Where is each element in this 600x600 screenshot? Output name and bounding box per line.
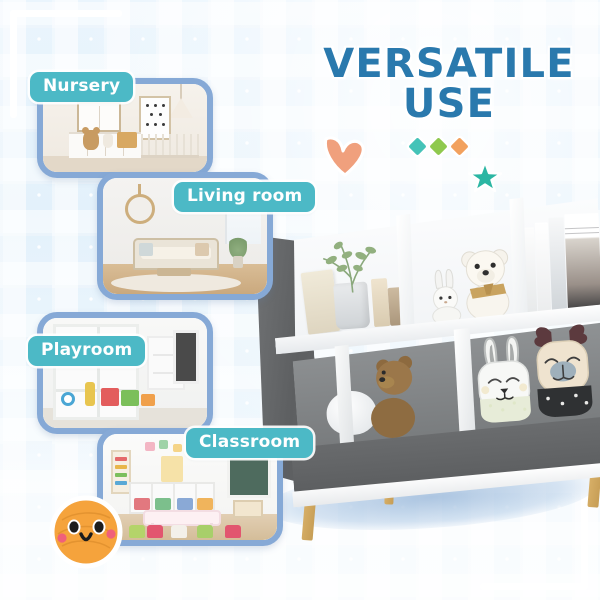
product-bookshelf bbox=[256, 176, 600, 536]
magazine-cover bbox=[564, 213, 600, 312]
diamond-icon-orange bbox=[450, 137, 468, 155]
page-title: VERSATILE USE bbox=[318, 44, 580, 124]
scene-label-living-room: Living room bbox=[174, 182, 315, 212]
scene-label-classroom: Classroom bbox=[186, 428, 313, 458]
scene-label-playroom: Playroom bbox=[28, 336, 145, 366]
diamond-icon-green bbox=[429, 137, 447, 155]
bracket-horizontal-bar bbox=[10, 10, 122, 17]
shelf-item-white-bear-plush bbox=[457, 241, 517, 323]
product-body bbox=[245, 176, 600, 531]
scene-card-playroom[interactable] bbox=[37, 312, 213, 434]
smiley-face-icon bbox=[48, 494, 124, 570]
diamond-icon-teal bbox=[408, 137, 426, 155]
scene-label-nursery: Nursery bbox=[30, 72, 133, 102]
shelf-item-magazines bbox=[519, 212, 600, 316]
shelf-item-deer-plush bbox=[527, 319, 600, 422]
shelf-item-brown-teddy-bear bbox=[358, 350, 426, 440]
promo-image-canvas: VERSATILE USE bbox=[0, 0, 600, 600]
shelf-item-storage-cup-light bbox=[371, 278, 390, 327]
heart-icon bbox=[322, 135, 366, 177]
diamond-decoration-group bbox=[411, 140, 466, 153]
bracket-vertical-bar bbox=[10, 10, 17, 118]
bracket-horizontal-bar bbox=[480, 583, 588, 590]
playroom-photo bbox=[43, 318, 207, 428]
